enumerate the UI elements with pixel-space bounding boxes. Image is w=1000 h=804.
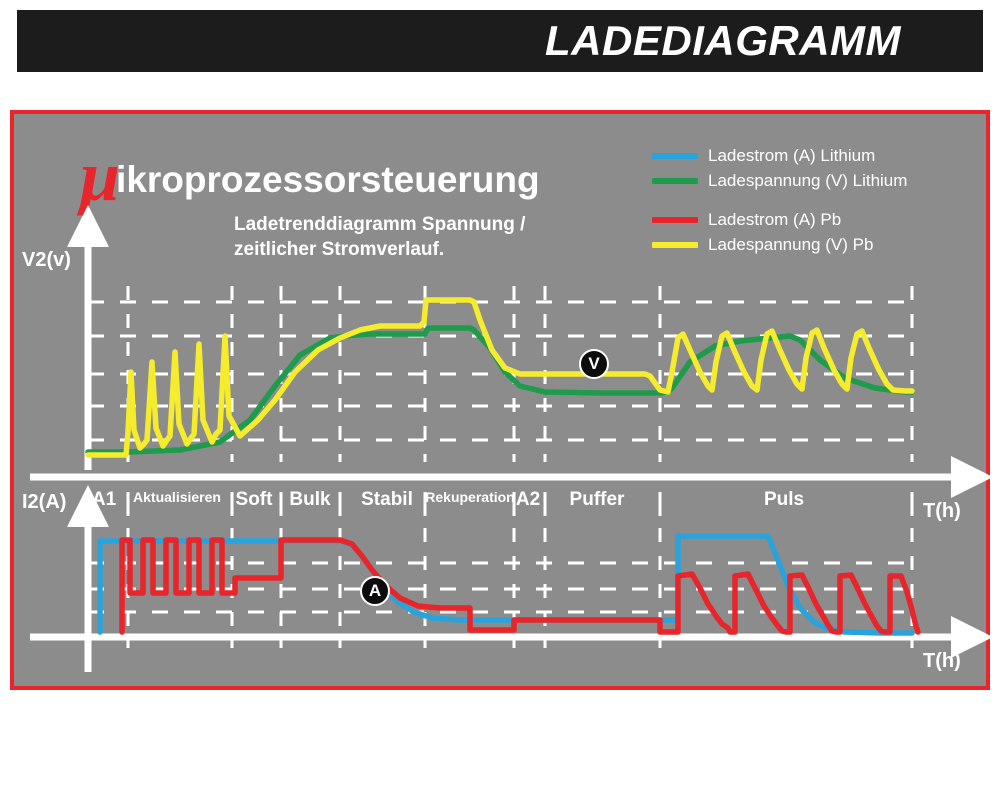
axis-label-v2: V2(v) bbox=[22, 249, 71, 272]
phase-label-aktualisieren: Aktualisieren bbox=[133, 489, 221, 505]
ladediagramm-page: LADEDIAGRAMM μ ikroprozessorsteuerung La… bbox=[0, 0, 1000, 804]
page-title: LADEDIAGRAMM bbox=[545, 20, 983, 62]
phase-label-a1: A1 bbox=[92, 489, 116, 511]
mu-symbol: μ bbox=[80, 148, 120, 206]
subtitle: Ladetrenddiagramm Spannung / zeitlicher … bbox=[234, 212, 525, 262]
legend-label-current-lithium: Ladestrom (A) Lithium bbox=[708, 146, 875, 166]
phase-label-stabil: Stabil bbox=[361, 489, 413, 511]
current-marker: A bbox=[360, 576, 390, 606]
legend-item-voltage-pb: Ladespannung (V) Pb bbox=[652, 232, 907, 257]
legend-label-current-pb: Ladestrom (A) Pb bbox=[708, 210, 841, 230]
phase-label-a2: A2 bbox=[516, 489, 540, 511]
brand-title: μ ikroprozessorsteuerung bbox=[80, 140, 540, 198]
legend: Ladestrom (A) Lithium Ladespannung (V) L… bbox=[652, 143, 907, 271]
phase-label-bulk: Bulk bbox=[289, 489, 330, 511]
axis-label-th-bottom: T(h) bbox=[923, 650, 961, 673]
legend-item-current-lithium: Ladestrom (A) Lithium bbox=[652, 143, 907, 168]
phase-label-row: A1AktualisierenSoftBulkStabilRekuperatio… bbox=[0, 489, 1000, 515]
phase-label-puls: Puls bbox=[764, 489, 804, 511]
voltage-marker: V bbox=[579, 349, 609, 379]
legend-swatch-current-pb bbox=[652, 217, 698, 223]
header-bar: LADEDIAGRAMM bbox=[17, 10, 983, 72]
legend-swatch-current-lithium bbox=[652, 153, 698, 159]
legend-label-voltage-pb: Ladespannung (V) Pb bbox=[708, 235, 873, 255]
legend-item-current-pb: Ladestrom (A) Pb bbox=[652, 207, 907, 232]
brand-text: ikroprozessorsteuerung bbox=[116, 161, 540, 198]
legend-label-voltage-lithium: Ladespannung (V) Lithium bbox=[708, 171, 907, 191]
legend-swatch-voltage-pb bbox=[652, 242, 698, 248]
legend-group-pb: Ladestrom (A) Pb Ladespannung (V) Pb bbox=[652, 207, 907, 257]
phase-label-rekuperation: Rekuperation bbox=[425, 489, 514, 505]
phase-label-puffer: Puffer bbox=[570, 489, 625, 511]
legend-swatch-voltage-lithium bbox=[652, 178, 698, 184]
legend-item-voltage-lithium: Ladespannung (V) Lithium bbox=[652, 168, 907, 193]
phase-label-soft: Soft bbox=[236, 489, 273, 511]
legend-group-lithium: Ladestrom (A) Lithium Ladespannung (V) L… bbox=[652, 143, 907, 193]
